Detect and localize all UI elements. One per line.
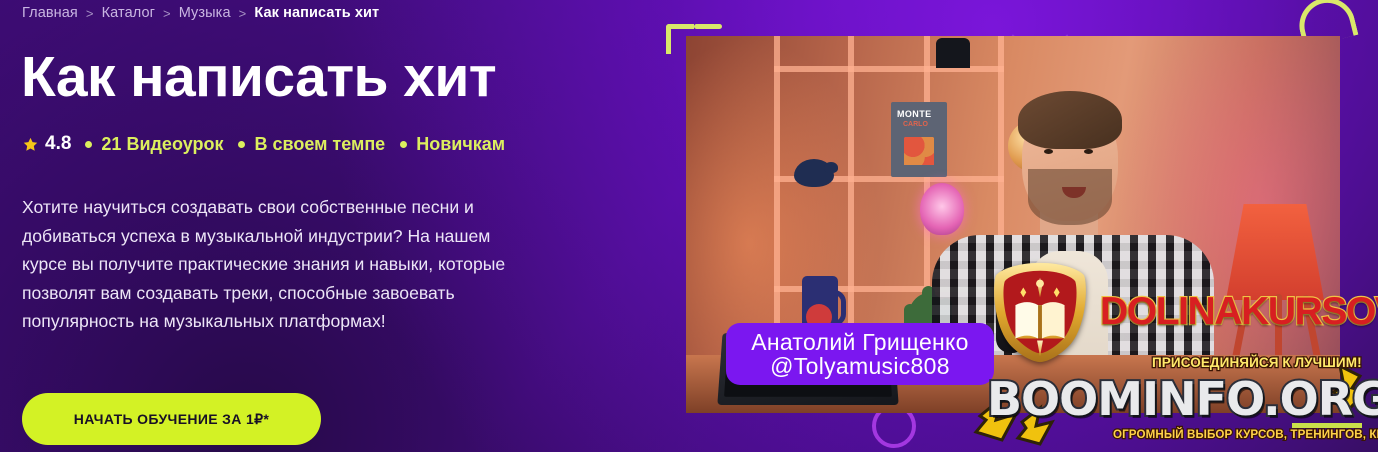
dolinakursov-text: DOLINAKURSOV	[1100, 290, 1378, 334]
breadcrumb-item-home[interactable]: Главная	[22, 5, 78, 21]
breadcrumb-separator: >	[86, 6, 94, 21]
shelf-object-dark	[936, 38, 970, 68]
boominfo-watermark-text: BOOMINFO.ORG	[987, 372, 1378, 426]
presenter-eye	[1084, 149, 1093, 154]
breadcrumb-separator: >	[239, 6, 247, 21]
breadcrumb-item-current: Как написать хит	[254, 5, 379, 21]
course-hero-banner: Главная > Каталог > Музыка > Как написат…	[0, 0, 1378, 452]
meta-item-label: В своем темпе	[254, 134, 385, 155]
course-description: Хотите научиться создавать свои собствен…	[22, 193, 532, 336]
course-meta-row: 4.8 21 Видеоурок В своем темпе Новичкам	[22, 133, 520, 155]
start-course-button[interactable]: НАЧАТЬ ОБУЧЕНИЕ ЗА 1₽*	[22, 393, 321, 445]
join-best-watermark-text: ПРИСОЕДИНЯЙСЯ К ЛУЧШИМ!	[1152, 355, 1362, 370]
meta-item-label: Новичкам	[416, 134, 505, 155]
presenter-name-badge: Анатолий Грищенко @Tolyamusic808	[726, 323, 994, 385]
star-icon	[22, 136, 39, 153]
hero-left-column: Главная > Каталог > Музыка > Как написат…	[22, 0, 662, 452]
rating-value: 4.8	[45, 133, 71, 155]
boominfo-underline	[1292, 423, 1362, 428]
bullet-dot-icon	[238, 141, 245, 148]
shield-emblem-icon	[986, 258, 1094, 366]
bullet-dot-icon	[400, 141, 407, 148]
breadcrumb-separator: >	[163, 6, 171, 21]
boominfo-subtitle-text: ОГРОМНЫЙ ВЫБОР КУРСОВ, ТРЕНИНГОВ, КНИГ	[1113, 428, 1378, 441]
bullet-dot-icon	[85, 141, 92, 148]
presenter-handle: @Tolyamusic808	[770, 354, 950, 378]
page-title: Как написать хит	[21, 48, 496, 106]
dolinakursov-watermark: DOLINAKURSOV	[986, 258, 1378, 366]
meta-item-lessons: 21 Видеоурок	[85, 134, 223, 155]
presenter-eye	[1044, 149, 1053, 154]
meta-item-label: 21 Видеоурок	[101, 134, 223, 155]
rating-badge: 4.8	[22, 133, 71, 155]
breadcrumb-item-catalog[interactable]: Каталог	[102, 5, 155, 21]
presenter-name: Анатолий Грищенко	[751, 330, 969, 354]
triangle-outline-decoration	[1009, 0, 1071, 40]
breadcrumb: Главная > Каталог > Музыка > Как написат…	[22, 5, 379, 21]
breadcrumb-item-music[interactable]: Музыка	[179, 5, 231, 21]
rubber-duck-object	[794, 159, 834, 187]
meta-item-level: Новичкам	[400, 134, 505, 155]
presenter-hair	[1018, 91, 1122, 149]
meta-item-pace: В своем темпе	[238, 134, 385, 155]
